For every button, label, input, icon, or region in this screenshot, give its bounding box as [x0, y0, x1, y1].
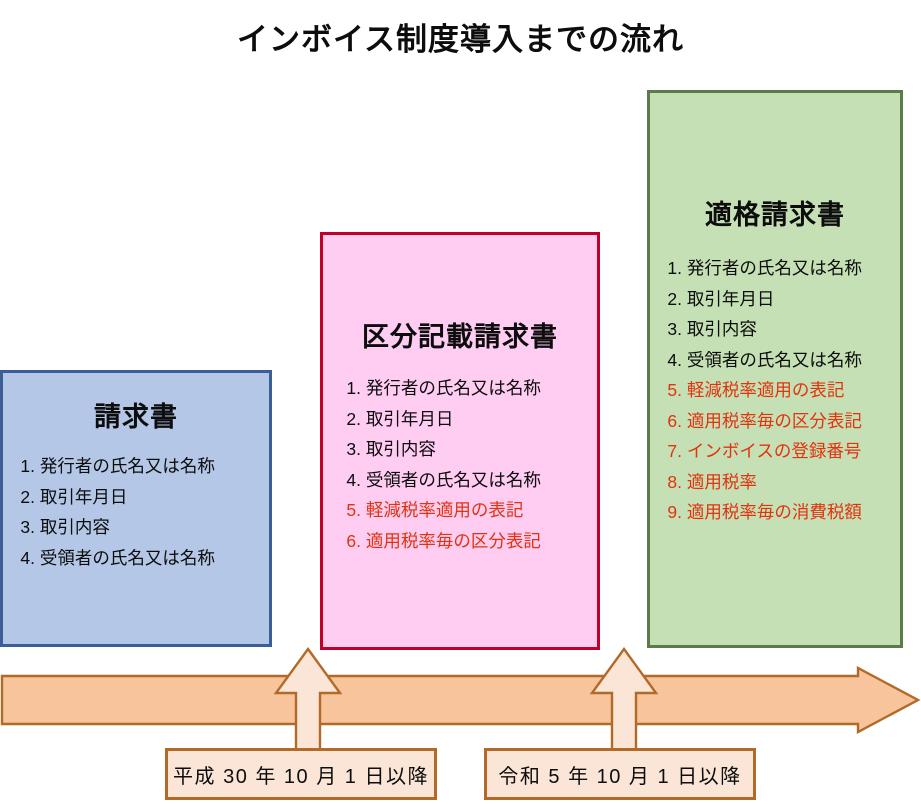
- list-item: 8. 適用税率: [662, 474, 900, 492]
- list-item-label: 適用税率毎の消費税額: [687, 502, 862, 522]
- stage-box-qualified-invoice: 適格請求書 1. 発行者の氏名又は名称 2. 取引年月日 3. 取引内容 4. …: [647, 90, 903, 648]
- list-item-label: 取引内容: [687, 319, 757, 339]
- milestone-label-reiwa-5: 令和 5 年 10 月 1 日以降: [484, 748, 756, 800]
- list-item: 9. 適用税率毎の消費税額: [662, 504, 900, 522]
- list-item-number: 3.: [15, 519, 35, 537]
- stage-title-classified-invoice: 区分記載請求書: [323, 315, 597, 354]
- requirement-list-classified-invoice: 1. 発行者の氏名又は名称 2. 取引年月日 3. 取引内容 4. 受領者の氏名…: [323, 380, 597, 550]
- list-item-label: インボイスの登録番号: [687, 441, 861, 461]
- list-item: 2. 取引年月日: [662, 291, 900, 309]
- list-item-number: 5.: [662, 382, 682, 400]
- list-item: 3. 取引内容: [341, 441, 597, 459]
- list-item-label: 適用税率: [687, 472, 757, 492]
- list-item-number: 4.: [662, 352, 682, 370]
- list-item: 4. 受領者の氏名又は名称: [662, 352, 900, 370]
- list-item-label: 受領者の氏名又は名称: [366, 470, 541, 490]
- milestone-riser-arrow-up-icon: [588, 645, 660, 765]
- list-item-label: 取引年月日: [687, 289, 775, 309]
- diagram-canvas: インボイス制度導入までの流れ 請求書 1. 発行者の氏名又は名称 2. 取引年月…: [0, 0, 921, 804]
- milestone-label-heisei-30: 平成 30 年 10 月 1 日以降: [165, 748, 437, 800]
- list-item-label: 適用税率毎の区分表記: [366, 531, 541, 551]
- list-item-number: 8.: [662, 474, 682, 492]
- list-item-number: 2.: [15, 489, 35, 507]
- page-title: インボイス制度導入までの流れ: [0, 14, 921, 59]
- list-item-label: 受領者の氏名又は名称: [40, 548, 215, 568]
- stage-title-qualified-invoice: 適格請求書: [650, 193, 900, 232]
- requirement-list-invoice: 1. 発行者の氏名又は名称 2. 取引年月日 3. 取引内容 4. 受領者の氏名…: [3, 458, 269, 567]
- list-item: 3. 取引内容: [662, 321, 900, 339]
- list-item: 2. 取引年月日: [15, 489, 269, 507]
- milestone-riser-arrow-up-icon: [272, 645, 344, 765]
- list-item-label: 受領者の氏名又は名称: [687, 350, 862, 370]
- timeline-arrow-right-icon: [0, 666, 921, 734]
- list-item: 6. 適用税率毎の区分表記: [341, 533, 597, 551]
- list-item-label: 取引年月日: [366, 409, 454, 429]
- list-item-number: 1.: [662, 260, 682, 278]
- list-item-label: 軽減税率適用の表記: [366, 500, 524, 520]
- list-item: 2. 取引年月日: [341, 411, 597, 429]
- list-item-number: 3.: [662, 321, 682, 339]
- list-item: 1. 発行者の氏名又は名称: [15, 458, 269, 476]
- list-item-number: 9.: [662, 504, 682, 522]
- list-item-label: 軽減税率適用の表記: [687, 380, 845, 400]
- list-item: 1. 発行者の氏名又は名称: [341, 380, 597, 398]
- list-item-label: 発行者の氏名又は名称: [40, 456, 215, 476]
- stage-box-invoice: 請求書 1. 発行者の氏名又は名称 2. 取引年月日 3. 取引内容 4. 受領…: [0, 370, 272, 647]
- list-item-label: 発行者の氏名又は名称: [366, 378, 541, 398]
- list-item: 7. インボイスの登録番号: [662, 443, 900, 461]
- list-item-number: 2.: [662, 291, 682, 309]
- list-item: 4. 受領者の氏名又は名称: [341, 472, 597, 490]
- list-item-number: 6.: [662, 413, 682, 431]
- list-item: 4. 受領者の氏名又は名称: [15, 550, 269, 568]
- list-item: 5. 軽減税率適用の表記: [341, 502, 597, 520]
- list-item-number: 5.: [341, 502, 361, 520]
- list-item-label: 取引内容: [40, 517, 110, 537]
- list-item-number: 3.: [341, 441, 361, 459]
- list-item-label: 取引年月日: [40, 487, 128, 507]
- stage-box-classified-invoice: 区分記載請求書 1. 発行者の氏名又は名称 2. 取引年月日 3. 取引内容 4…: [320, 232, 600, 650]
- list-item: 5. 軽減税率適用の表記: [662, 382, 900, 400]
- list-item: 3. 取引内容: [15, 519, 269, 537]
- list-item: 6. 適用税率毎の区分表記: [662, 413, 900, 431]
- list-item-number: 4.: [15, 550, 35, 568]
- stage-title-invoice: 請求書: [3, 395, 269, 434]
- list-item-number: 6.: [341, 533, 361, 551]
- list-item-label: 取引内容: [366, 439, 436, 459]
- list-item: 1. 発行者の氏名又は名称: [662, 260, 900, 278]
- requirement-list-qualified-invoice: 1. 発行者の氏名又は名称 2. 取引年月日 3. 取引内容 4. 受領者の氏名…: [650, 260, 900, 522]
- list-item-label: 適用税率毎の区分表記: [687, 411, 862, 431]
- list-item-label: 発行者の氏名又は名称: [687, 258, 862, 278]
- list-item-number: 2.: [341, 411, 361, 429]
- list-item-number: 7.: [662, 443, 682, 461]
- list-item-number: 1.: [15, 458, 35, 476]
- list-item-number: 4.: [341, 472, 361, 490]
- list-item-number: 1.: [341, 380, 361, 398]
